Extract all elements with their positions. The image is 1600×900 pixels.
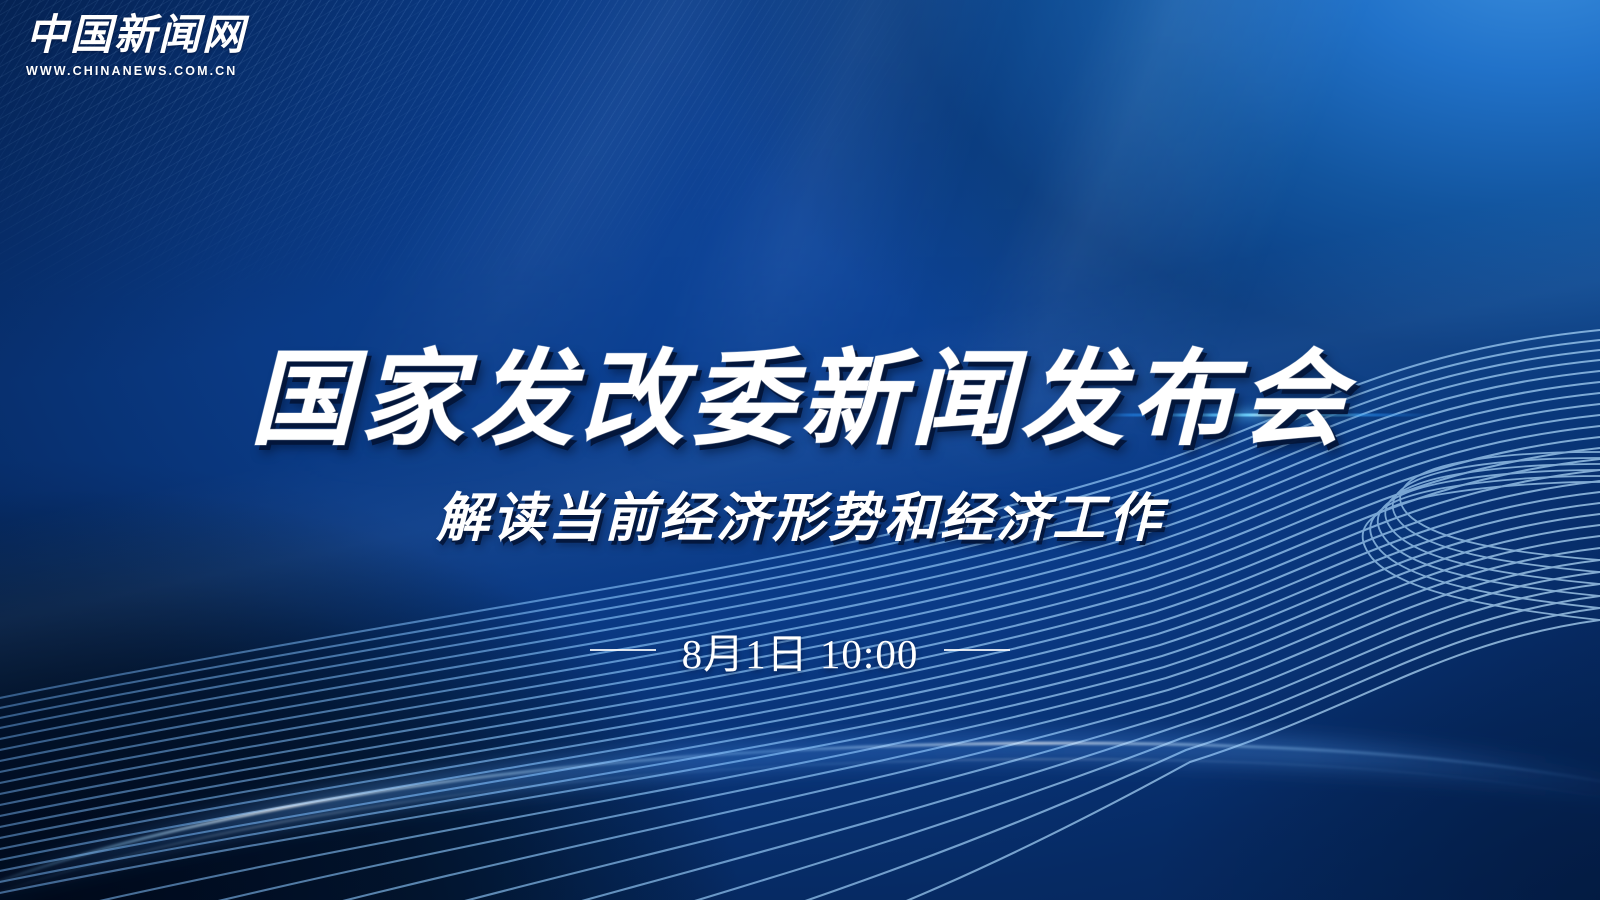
- chinanews-logo[interactable]: 中国新闻网 WWW.CHINANEWS.COM.CN: [26, 14, 236, 78]
- logo-website-url: WWW.CHINANEWS.COM.CN: [26, 64, 236, 78]
- background-arc-glow: [0, 0, 1600, 900]
- news-conference-poster: 中国新闻网 WWW.CHINANEWS.COM.CN 国家发改委新闻发布会 解读…: [0, 0, 1600, 900]
- logo-chinese-text: 中国新闻网: [26, 14, 236, 59]
